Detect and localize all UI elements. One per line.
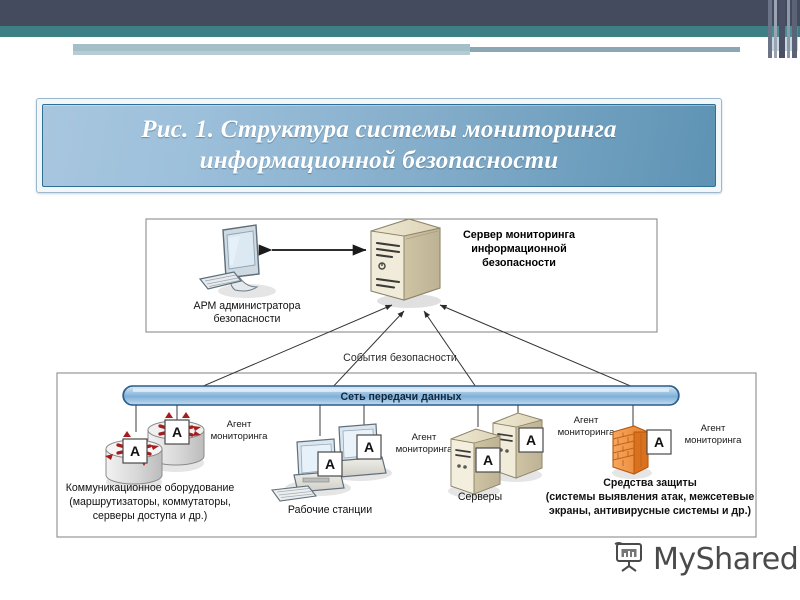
header-accent-line-3 bbox=[340, 44, 470, 51]
protection-means-caption-line2: (системы выявления атак, межсетевые bbox=[546, 491, 755, 503]
agent-badge-letter: A bbox=[654, 434, 664, 450]
title-plate-inner: Рис. 1. Структура системы мониторинга ин… bbox=[42, 104, 716, 187]
agent-badge-letter: A bbox=[130, 443, 140, 459]
myshared-watermark: MyShared bbox=[612, 540, 798, 579]
agent-label-comm-line1: Агент bbox=[227, 419, 252, 430]
agent-badge-comm-1: A bbox=[123, 439, 147, 463]
workstations-caption-line1: Рабочие станции bbox=[288, 504, 372, 516]
agent-badge-ws-2: A bbox=[357, 435, 381, 459]
agent-badge-letter: A bbox=[526, 432, 536, 448]
network-bus-label: Сеть передачи данных bbox=[340, 391, 461, 403]
agent-label-comm-line2: мониторинга bbox=[211, 431, 268, 442]
admin-workstation-label-line1: АРМ администратора bbox=[194, 300, 301, 312]
header-vertical-bar-1 bbox=[768, 0, 772, 58]
presentation-chart-icon bbox=[612, 540, 646, 579]
header-dark-band bbox=[0, 0, 800, 26]
header-vertical-bar-4 bbox=[787, 0, 790, 58]
agent-label-ws-line1: Агент bbox=[412, 432, 437, 443]
agent-label-srv-line1: Агент bbox=[574, 415, 599, 426]
agent-label-fw-line2: мониторинга bbox=[685, 435, 742, 446]
header-vertical-bar-2 bbox=[774, 0, 777, 58]
agent-badge-srv-2: A bbox=[519, 428, 543, 452]
header-accent-line-5 bbox=[73, 51, 470, 55]
header-accent-line-2 bbox=[73, 44, 340, 51]
agent-badge-ws-1: A bbox=[318, 452, 342, 476]
header-vertical-bar-5 bbox=[792, 0, 797, 58]
comm-equipment-caption-line2: (маршрутизаторы, коммутаторы, bbox=[69, 496, 231, 508]
comm-equipment-caption-line3: серверы доступа и др.) bbox=[93, 510, 208, 522]
agent-badge-comm-2: A bbox=[165, 420, 189, 444]
agent-badge-letter: A bbox=[364, 439, 374, 455]
agent-badge-letter: A bbox=[325, 456, 335, 472]
agent-badge-fw-1: A bbox=[647, 430, 671, 454]
agent-label-fw-line1: Агент bbox=[701, 423, 726, 434]
agent-label-ws-line2: мониторинга bbox=[396, 444, 453, 455]
agent-label-srv-line2: мониторинга bbox=[558, 427, 615, 438]
page-title: Рис. 1. Структура системы мониторинга ин… bbox=[131, 115, 627, 176]
agent-badge-srv-1: A bbox=[476, 448, 500, 472]
protection-means-icons bbox=[612, 426, 652, 479]
slide-canvas: Рис. 1. Структура системы мониторинга ин… bbox=[0, 0, 800, 600]
admin-workstation-label-line2: безопасности bbox=[214, 313, 281, 325]
monitoring-server-label-line2: информационной bbox=[471, 243, 567, 255]
protection-means-caption-line3: экраны, антивирусные системы и др.) bbox=[549, 505, 751, 517]
monitoring-server-label-line3: безопасности bbox=[482, 257, 556, 269]
agent-badge-letter: A bbox=[483, 452, 493, 468]
comm-equipment-caption-line1: Коммуникационное оборудование bbox=[66, 482, 235, 494]
agent-badge-letter: A bbox=[172, 424, 182, 440]
title-plate: Рис. 1. Структура системы мониторинга ин… bbox=[36, 98, 722, 193]
header-teal-band bbox=[0, 26, 800, 37]
header-accent-line-4 bbox=[470, 47, 740, 52]
monitoring-server-label-line1: Сервер мониторинга bbox=[463, 229, 576, 241]
servers-caption-line1: Серверы bbox=[458, 491, 502, 503]
title-line-1: Рис. 1. Структура системы мониторинга bbox=[141, 115, 617, 146]
watermark-label: MyShared bbox=[653, 542, 798, 577]
protection-means-caption-line1: Средства защиты bbox=[603, 477, 697, 489]
title-line-2: информационной безопасности bbox=[141, 146, 617, 177]
header-vertical-bar-3 bbox=[779, 0, 785, 58]
architecture-diagram: АРМ администратора безопасности Сервер м… bbox=[0, 205, 800, 550]
